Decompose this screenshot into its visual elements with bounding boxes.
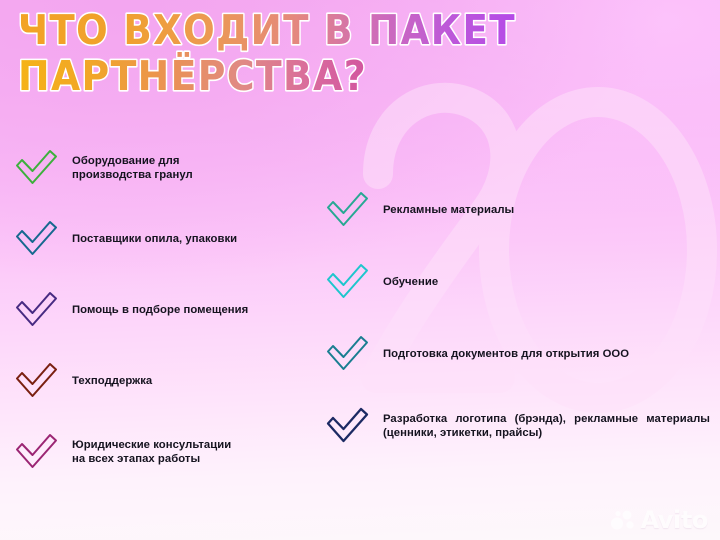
check-icon-path: [17, 364, 56, 396]
list-item-label: Рекламные материалы: [383, 203, 514, 217]
check-icon: [325, 262, 371, 302]
check-icon: [325, 334, 371, 374]
check-icon: [14, 219, 60, 259]
poster-canvas: ЧТО ВХОДИТ В ПАКЕТ ПАРТНЁРСТВА?: [0, 0, 720, 540]
list-item: Разработка логотипа (брэнда), рекламные …: [325, 406, 710, 446]
list-item: Рекламные материалы: [325, 190, 710, 230]
list-item: Помощь в подборе помещения: [14, 290, 314, 330]
check-icon-path: [17, 222, 56, 254]
check-icon-path: [328, 265, 367, 297]
check-icon: [14, 290, 60, 330]
check-icon-path: [328, 409, 367, 441]
page-title-line-1-text: ЧТО ВХОДИТ В ПАКЕТ: [18, 6, 516, 54]
benefits-column-right: Рекламные материалы Обучение Подготовка …: [325, 190, 710, 446]
list-item-label: Помощь в подборе помещения: [72, 303, 248, 317]
check-icon-path: [17, 151, 56, 183]
page-title-line-2-text: ПАРТНЁРСТВА?: [18, 52, 367, 100]
list-item: Юридические консультациина всех этапах р…: [14, 432, 314, 472]
check-icon-path: [328, 337, 367, 369]
page-title-line-1: ЧТО ВХОДИТ В ПАКЕТ: [18, 8, 618, 54]
list-item-label: Оборудование дляпроизводства гранул: [72, 154, 193, 182]
check-icon-path: [17, 435, 56, 467]
check-icon: [14, 432, 60, 472]
list-item: Обучение: [325, 262, 710, 302]
list-item: Поставщики опила, упаковки: [14, 219, 314, 259]
list-item-label: Юридические консультациина всех этапах р…: [72, 438, 231, 466]
list-item-label: Подготовка документов для открытия ООО: [383, 347, 629, 361]
check-icon-path: [17, 293, 56, 325]
check-icon: [325, 190, 371, 230]
list-item: Техподдержка: [14, 361, 314, 401]
check-icon: [14, 361, 60, 401]
list-item: Оборудование дляпроизводства гранул: [14, 148, 314, 188]
page-title-line-2: ПАРТНЁРСТВА?: [18, 54, 618, 100]
page-title: ЧТО ВХОДИТ В ПАКЕТ ПАРТНЁРСТВА?: [18, 8, 618, 100]
benefits-column-left: Оборудование дляпроизводства гранул Пост…: [14, 148, 314, 472]
list-item-label: Техподдержка: [72, 374, 152, 388]
list-item: Подготовка документов для открытия ООО: [325, 334, 710, 374]
avito-dots-icon: [610, 510, 636, 530]
list-item-label: Обучение: [383, 275, 438, 289]
check-icon: [325, 406, 371, 446]
check-icon-path: [328, 193, 367, 225]
avito-watermark: Avito: [610, 508, 708, 532]
list-item-label: Поставщики опила, упаковки: [72, 232, 237, 246]
check-icon: [14, 148, 60, 188]
avito-watermark-label: Avito: [640, 508, 708, 532]
list-item-label: Разработка логотипа (брэнда), рекламные …: [383, 412, 710, 440]
